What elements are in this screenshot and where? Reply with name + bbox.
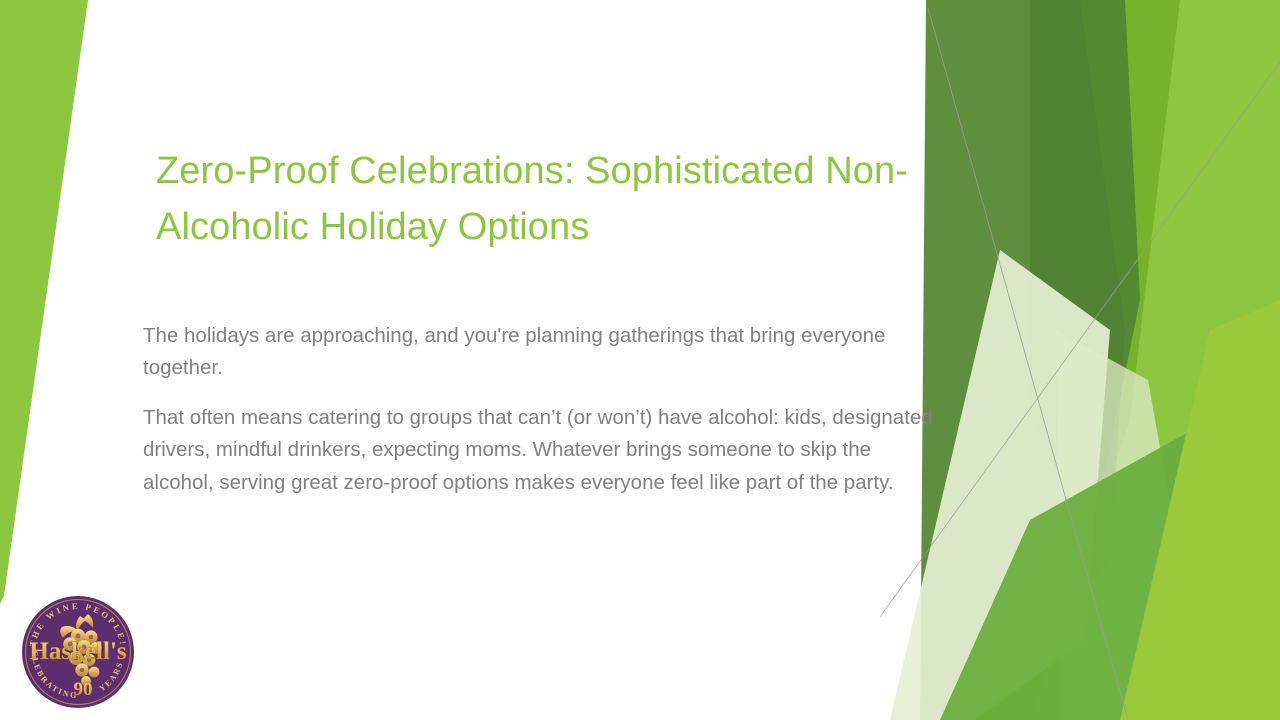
logo-anniversary-number: 90 [74,679,93,700]
facet-shape-pale-sliver [1056,330,1180,720]
slide-content-area: Zero-Proof Celebrations: Sophisticated N… [0,0,1000,720]
facet-shape-dark-overlay [1030,0,1140,520]
logo-brand-name: Haskell's [29,638,127,665]
facet-shape-base-light [1000,0,1280,720]
haskells-logo: Haskell's THE WINE PEOPLE! CELEBRATING Y… [18,592,138,712]
presentation-slide: Zero-Proof Celebrations: Sophisticated N… [0,0,1280,720]
body-paragraph-1: The holidays are approaching, and you're… [143,320,933,385]
slide-body-text: The holidays are approaching, and you're… [143,320,933,499]
facet-shape-bottom-bright [1120,300,1280,720]
slide-title: Zero-Proof Celebrations: Sophisticated N… [156,143,936,255]
body-paragraph-2: That often means catering to groups that… [143,402,933,499]
